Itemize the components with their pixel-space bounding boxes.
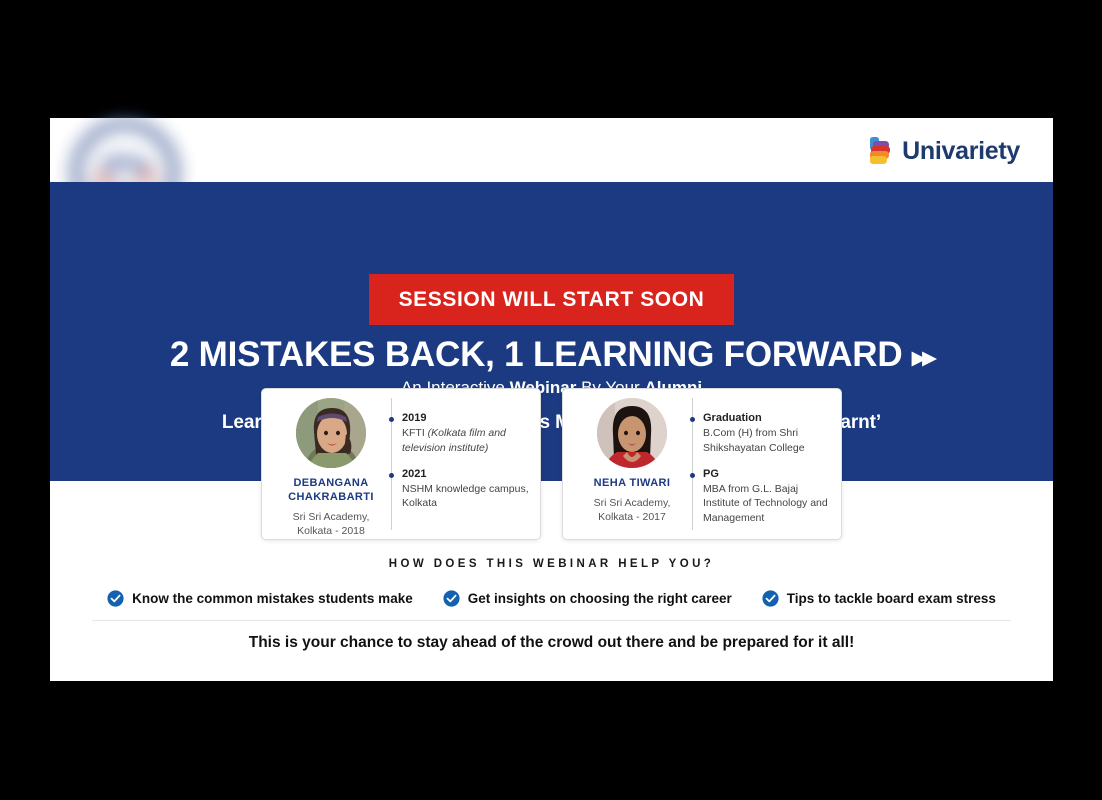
speaker-school: Sri Sri Academy, Kolkata - 2018 xyxy=(293,510,370,538)
education-desc-plain: KFTI xyxy=(402,427,428,439)
education-entry: 2019 KFTI (Kolkata film and television i… xyxy=(406,411,532,456)
status-badge: SESSION WILL START SOON xyxy=(369,274,735,325)
education-desc: B.Com (H) from Shri Shikshayatan College xyxy=(703,426,833,456)
education-entry: Graduation B.Com (H) from Shri Shikshaya… xyxy=(707,411,833,456)
check-circle-icon xyxy=(107,590,124,607)
speaker-school-line2: Kolkata - 2018 xyxy=(293,524,370,538)
education-title: Graduation xyxy=(703,411,833,426)
hero-title-text: 2 MISTAKES BACK, 1 LEARNING FORWARD xyxy=(170,335,903,374)
speaker-name-line1: NEHA TIWARI xyxy=(594,477,671,491)
education-entry: 2021 NSHM knowledge campus, Kolkata xyxy=(406,467,532,512)
speaker-photo-debangana xyxy=(296,398,366,468)
speaker-profile: DEBANGANA CHAKRABARTI Sri Sri Academy, K… xyxy=(271,398,391,530)
education-desc: MBA from G.L. Bajaj Institute of Technol… xyxy=(703,482,833,527)
speaker-school-line2: Kolkata - 2017 xyxy=(594,510,671,524)
benefit-label: Know the common mistakes students make xyxy=(132,591,413,606)
webinar-slide: Univariety SESSION WILL START SOON 2 MIS… xyxy=(50,118,1053,681)
speaker-school-line1: Sri Sri Academy, xyxy=(293,510,370,524)
footnote-text: This is your chance to stay ahead of the… xyxy=(50,634,1053,652)
speaker-name: NEHA TIWARI xyxy=(594,477,671,491)
section-divider xyxy=(92,620,1011,621)
education-title: PG xyxy=(703,467,833,482)
benefit-label: Get insights on choosing the right caree… xyxy=(468,591,732,606)
benefits-heading: HOW DOES THIS WEBINAR HELP YOU? xyxy=(50,558,1053,570)
benefit-item: Tips to tackle board exam stress xyxy=(762,590,996,607)
check-circle-icon xyxy=(762,590,779,607)
benefit-label: Tips to tackle board exam stress xyxy=(787,591,996,606)
slide-header: Univariety xyxy=(50,118,1053,182)
check-circle-icon xyxy=(443,590,460,607)
speaker-education-list: 2019 KFTI (Kolkata film and television i… xyxy=(391,398,532,530)
speaker-school: Sri Sri Academy, Kolkata - 2017 xyxy=(594,496,671,524)
bullet-dot-icon xyxy=(690,473,695,478)
education-desc: NSHM knowledge campus, Kolkata xyxy=(402,482,532,512)
benefit-item: Know the common mistakes students make xyxy=(107,590,413,607)
speaker-card-list: DEBANGANA CHAKRABARTI Sri Sri Academy, K… xyxy=(50,388,1053,540)
speaker-name: DEBANGANA CHAKRABARTI xyxy=(288,477,374,505)
education-title: 2021 xyxy=(402,467,532,482)
bullet-dot-icon xyxy=(690,417,695,422)
speaker-photo-neha xyxy=(597,398,667,468)
page-title: 2 MISTAKES BACK, 1 LEARNING FORWARD ▸▸ xyxy=(50,335,1053,375)
univariety-brand: Univariety xyxy=(866,136,1020,166)
benefits-list: Know the common mistakes students make G… xyxy=(50,590,1053,607)
speaker-card: DEBANGANA CHAKRABARTI Sri Sri Academy, K… xyxy=(261,388,541,540)
bullet-dot-icon xyxy=(389,417,394,422)
education-desc: KFTI (Kolkata film and television instit… xyxy=(402,426,532,456)
speaker-profile: NEHA TIWARI Sri Sri Academy, Kolkata - 2… xyxy=(572,398,692,530)
brand-name: Univariety xyxy=(902,139,1020,164)
speaker-education-list: Graduation B.Com (H) from Shri Shikshaya… xyxy=(692,398,833,530)
bullet-dot-icon xyxy=(389,473,394,478)
speaker-name-line2: CHAKRABARTI xyxy=(288,491,374,505)
speaker-school-line1: Sri Sri Academy, xyxy=(594,496,671,510)
education-title: 2019 xyxy=(402,411,532,426)
education-entry: PG MBA from G.L. Bajaj Institute of Tech… xyxy=(707,467,833,527)
speaker-name-line1: DEBANGANA xyxy=(288,477,374,491)
speaker-card: NEHA TIWARI Sri Sri Academy, Kolkata - 2… xyxy=(562,388,842,540)
forward-arrows-icon: ▸▸ xyxy=(912,342,933,372)
univariety-layers-icon xyxy=(866,136,893,166)
benefit-item: Get insights on choosing the right caree… xyxy=(443,590,732,607)
